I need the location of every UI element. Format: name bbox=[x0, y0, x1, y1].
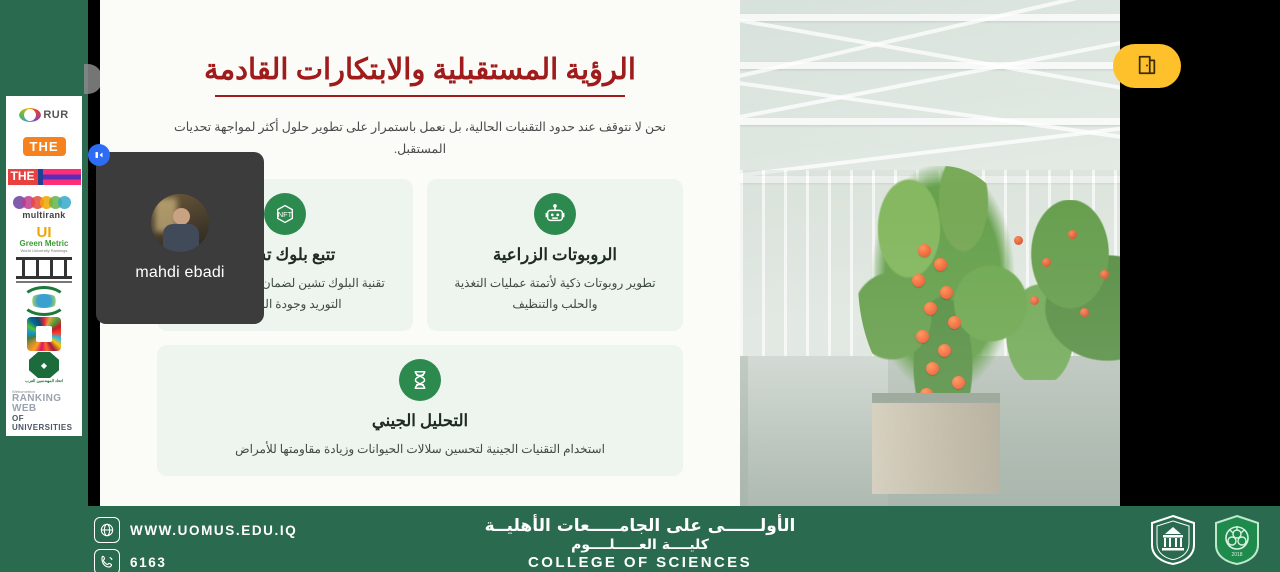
footer-phone-text: 6163 bbox=[130, 555, 166, 570]
feature-card-desc: استخدام التقنيات الجينية لتحسين سلالات ا… bbox=[173, 439, 667, 460]
greenmetric-ui-text: UI bbox=[20, 225, 69, 240]
columns-emblem-icon bbox=[16, 257, 72, 283]
dna-icon bbox=[399, 359, 441, 401]
rankings-sidebar: RUR THE THE bbox=[0, 0, 88, 512]
webometrics-bottom-text: OF UNIVERSITIES bbox=[12, 414, 76, 432]
footer-contact-block: WWW.UOMUS.EDU.IQ 6163 bbox=[94, 517, 297, 572]
the-impact-ranking-logo: THE bbox=[8, 162, 80, 192]
feature-card-wide: التحليل الجيني استخدام التقنيات الجينية … bbox=[157, 345, 683, 476]
arab-engineers-octagon-icon: ◆ bbox=[29, 352, 59, 378]
university-footer-bar: WWW.UOMUS.EDU.IQ 6163 الأولــــــى على ا… bbox=[0, 506, 1280, 572]
the-impact-stripes bbox=[43, 169, 81, 185]
greenmetric-green-text: Green Metric bbox=[20, 240, 69, 248]
footer-website-text: WWW.UOMUS.EDU.IQ bbox=[130, 523, 297, 538]
svg-text:2018: 2018 bbox=[1231, 552, 1242, 558]
greenmetric-sub-text: World University Rankings bbox=[20, 248, 69, 253]
feature-card-title: التحليل الجيني bbox=[173, 411, 667, 431]
the-impact-the-text: THE bbox=[8, 169, 38, 185]
participant-name: mahdi ebadi bbox=[135, 264, 224, 282]
rur-ranking-logo: RUR bbox=[8, 100, 80, 130]
participant-video-tile[interactable]: mahdi ebadi bbox=[96, 152, 264, 324]
webometrics-mid-text: RANKING WEB bbox=[12, 394, 76, 414]
robot-icon bbox=[534, 193, 576, 235]
title-underline bbox=[215, 95, 625, 97]
arab-universities-union-logo bbox=[8, 286, 80, 316]
meeting-screen: RUR THE THE bbox=[0, 0, 1280, 572]
rankings-logo-strip: RUR THE THE bbox=[6, 96, 82, 436]
multirank-label: multirank bbox=[22, 210, 65, 220]
feature-card-title: الروبوتات الزراعية bbox=[443, 245, 667, 265]
feature-card: الروبوتات الزراعية تطوير روبوتات ذكية لأ… bbox=[427, 179, 683, 331]
footer-seal-group: 2018 bbox=[1148, 514, 1262, 566]
sdg-wheel-icon bbox=[27, 317, 61, 351]
multirank-dots-icon bbox=[17, 196, 71, 209]
globe-www-icon bbox=[94, 517, 120, 543]
rur-ranking-label: RUR bbox=[43, 109, 68, 121]
rur-swoosh-icon bbox=[19, 108, 41, 122]
the-ranking-label: THE bbox=[23, 137, 66, 156]
svg-text:NFT: NFT bbox=[278, 210, 293, 219]
feature-card-desc: تطوير روبوتات ذكية لأتمتة عمليات التغذية… bbox=[443, 273, 667, 315]
the-impact-mark: THE bbox=[8, 169, 81, 185]
u-multirank-logo: multirank bbox=[8, 193, 80, 223]
ui-greenmetric-logo: UI Green Metric World University Ranking… bbox=[8, 224, 80, 254]
pinned-video-icon bbox=[88, 144, 110, 166]
greenhouse-tomato-photo bbox=[740, 0, 1120, 506]
participant-avatar bbox=[151, 194, 209, 252]
webometrics-ranking-logo: Webometrics RANKING WEB OF UNIVERSITIES bbox=[8, 389, 80, 432]
slide-title: الرؤية المستقبلية والابتكارات القادمة bbox=[134, 52, 706, 93]
wreath-globe-icon bbox=[21, 286, 67, 316]
the-ranking-logo: THE bbox=[8, 131, 80, 161]
qs-ranking-logo bbox=[8, 255, 80, 285]
college-seal-green: 2018 bbox=[1212, 514, 1262, 566]
arab-engineers-caption: اتحاد المهندسين العرب bbox=[25, 378, 63, 383]
university-seal-white bbox=[1148, 514, 1198, 566]
sdg-impact-logo bbox=[8, 317, 80, 351]
phone-icon bbox=[94, 549, 120, 572]
nft-blockchain-icon: NFT bbox=[264, 193, 306, 235]
footer-phone-row[interactable]: 6163 bbox=[94, 549, 297, 572]
arab-engineers-federation-logo: ◆ اتحاد المهندسين العرب bbox=[8, 352, 80, 388]
footer-website-row[interactable]: WWW.UOMUS.EDU.IQ bbox=[94, 517, 297, 543]
leave-meeting-button[interactable] bbox=[1113, 44, 1181, 88]
door-exit-icon bbox=[1136, 54, 1158, 79]
